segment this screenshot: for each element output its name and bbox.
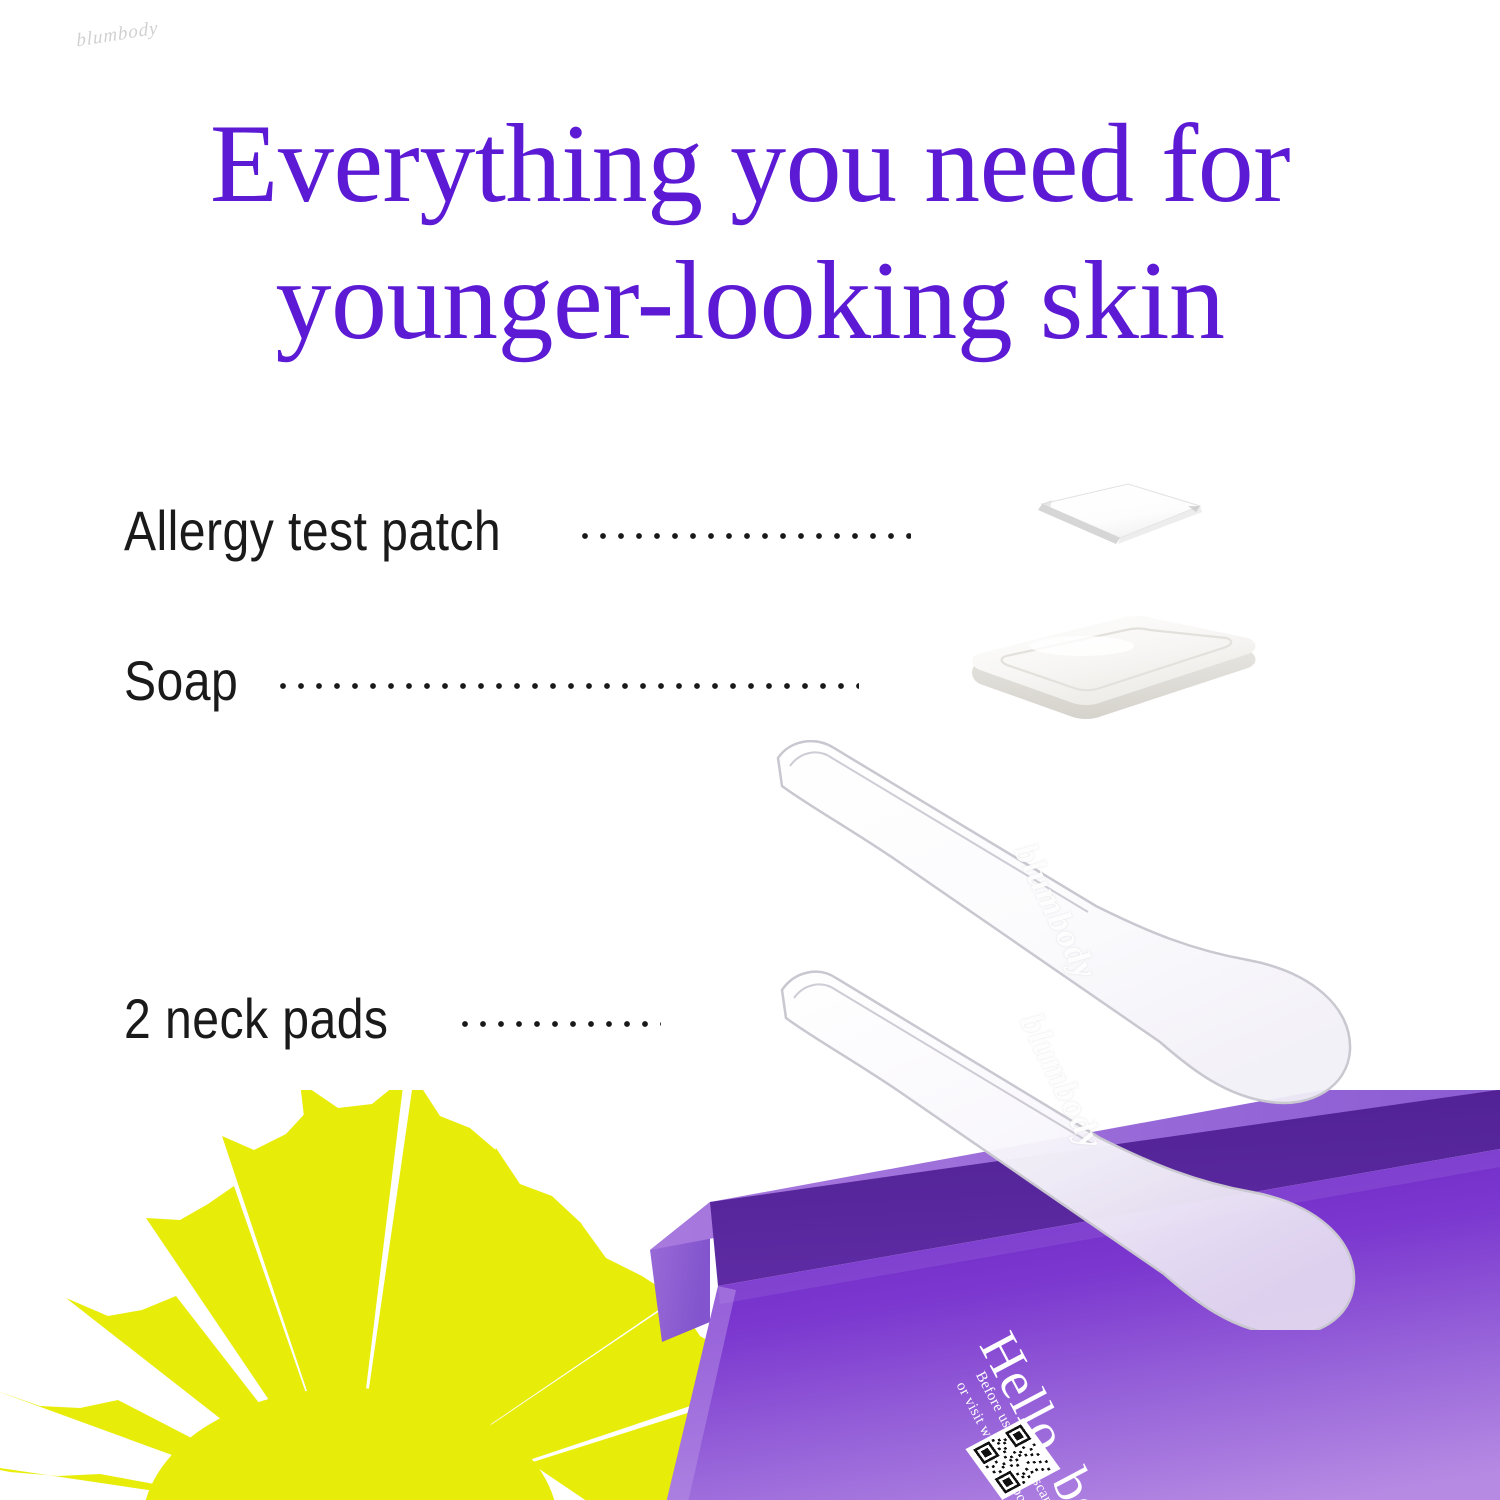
allergy-test-patch-image bbox=[1028, 482, 1204, 548]
product-infographic: Everything you need for younger-looking … bbox=[0, 0, 1500, 1500]
soap-emboss-text: blumbody bbox=[76, 17, 159, 52]
soap-bar-image bbox=[962, 612, 1262, 724]
product-photo-layer: Hello, beautiful! Before use, please sca… bbox=[0, 0, 1500, 1500]
neck-pads-image bbox=[760, 740, 1460, 1330]
